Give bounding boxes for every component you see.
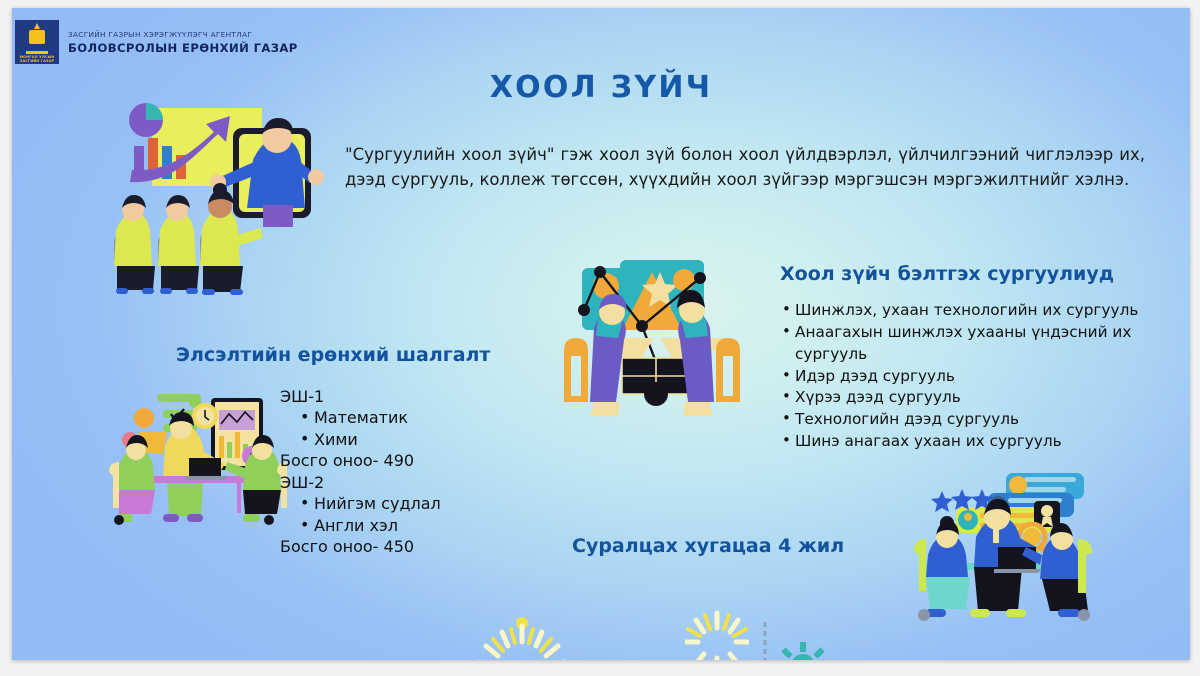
exam-group-label: ЭШ-1: [280, 386, 550, 407]
emblem-bar: [26, 51, 48, 54]
list-item: Англи хэл: [300, 515, 550, 536]
study-meeting-illustration: 5: [109, 380, 287, 526]
list-item: Хүрээ дээд сургууль: [780, 387, 1180, 409]
exam-threshold-1: Босго оноо- 490: [280, 450, 550, 471]
soyombo-icon: [28, 23, 46, 50]
study-duration-text: Суралцах хугацаа 4 жил: [572, 535, 844, 557]
exam-subjects-2: Нийгэм судлал Англи хэл: [300, 493, 550, 536]
entrance-exam-body: ЭШ-1 Математик Хими Босго оноо- 490 ЭШ-2…: [280, 386, 550, 558]
universities-heading: Хоол зүйч бэлтгэх сургуулиуд: [780, 263, 1114, 285]
slide-canvas: МОНГОЛ УЛСЫН ЗАСГИЙН ГАЗАР ЗАСГИЙН ГАЗРЫ…: [12, 8, 1190, 660]
exam-subjects-1: Математик Хими: [300, 407, 550, 450]
list-item: Шинжлэх, ухаан технологийн их сургууль: [780, 300, 1180, 322]
gear-shape: [780, 642, 826, 660]
list-item: Математик: [300, 407, 550, 428]
sunburst-large: [685, 610, 749, 660]
vertical-dashes: [760, 620, 770, 660]
exam-group-label-2: ЭШ-2: [280, 472, 550, 493]
intro-paragraph: "Сургуулийн хоол зүйч" гэж хоол зүй боло…: [345, 142, 1145, 192]
sunburst-small: [472, 616, 572, 660]
government-emblem-icon: МОНГОЛ УЛСЫН ЗАСГИЙН ГАЗАР: [15, 20, 59, 64]
entrance-exam-heading: Элсэлтийн ерөнхий шалгалт: [176, 344, 490, 366]
list-item: Анаагахын шинжлэх ухааны үндэсний их сур…: [780, 322, 1180, 366]
organization-logo-block: МОНГОЛ УЛСЫН ЗАСГИЙН ГАЗАР ЗАСГИЙН ГАЗРЫ…: [15, 20, 298, 64]
list-item: Технологийн дээд сургууль: [780, 409, 1180, 431]
teamwork-desks-illustration: [560, 250, 772, 430]
agency-line: ЗАСГИЙН ГАЗРЫН ХЭРЭГЖҮҮЛЭГЧ АГЕНТЛАГ: [68, 30, 298, 39]
organization-names: ЗАСГИЙН ГАЗРЫН ХЭРЭГЖҮҮЛЭГЧ АГЕНТЛАГ БОЛ…: [68, 30, 298, 55]
online-presentation-illustration: [100, 100, 338, 295]
exam-threshold-2: Босго оноо- 450: [280, 536, 550, 557]
list-item: Шинэ анагаах ухаан их сургууль: [780, 431, 1180, 453]
list-item: Нийгэм судлал: [300, 493, 550, 514]
list-item: Идэр дээд сургууль: [780, 366, 1180, 388]
department-line: БОЛОВСРОЛЫН ЕРӨНХИЙ ГАЗАР: [68, 41, 298, 55]
universities-list: Шинжлэх, ухаан технологийн их сургууль А…: [780, 300, 1180, 453]
team-review-illustration: [914, 451, 1138, 623]
list-item: Хими: [300, 429, 550, 450]
emblem-caption: МОНГОЛ УЛСЫН ЗАСГИЙН ГАЗАР: [15, 55, 59, 64]
